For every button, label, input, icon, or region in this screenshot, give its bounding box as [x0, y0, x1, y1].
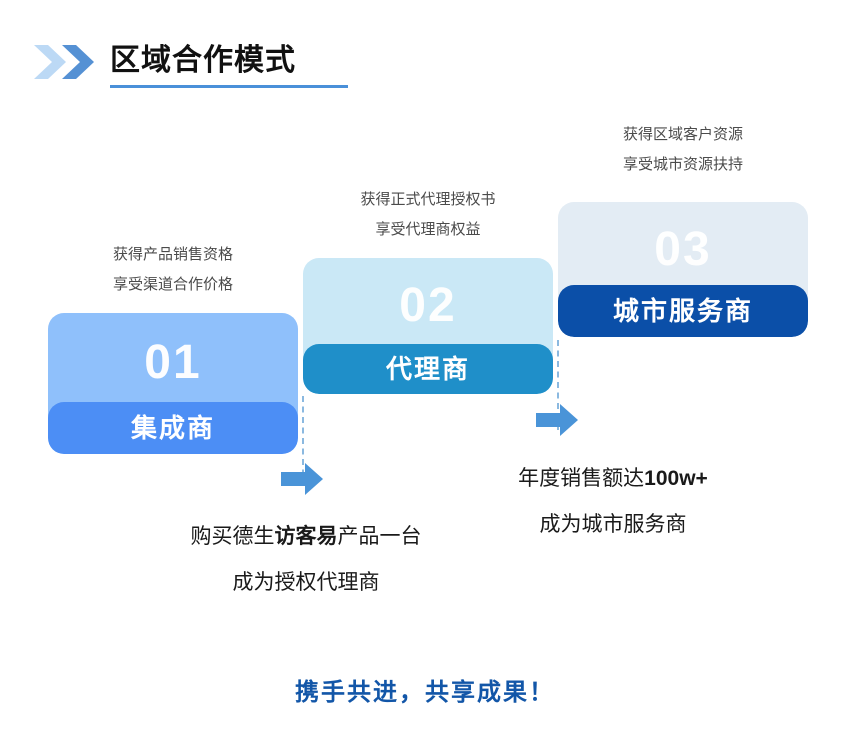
tier-caption-02: 获得正式代理授权书 享受代理商权益 [298, 185, 558, 245]
tier-label-01: 集成商 [131, 415, 215, 441]
footer-slogan: 携手共进，共享成果！ [0, 672, 850, 707]
note-2-strong: 100w+ [644, 467, 708, 490]
tier-card-03[interactable]: 03 城市服务商 [558, 202, 808, 337]
note-1-prefix: 购买德生 [191, 525, 275, 548]
tier-label-03: 城市服务商 [613, 298, 753, 324]
tier-requirement-note-1: 购买德生访客易产品一台 成为授权代理商 [141, 514, 471, 606]
tier-caption-01-line2: 享受渠道合作价格 [48, 270, 298, 300]
tier-caption-03-line2: 享受城市资源扶持 [558, 150, 808, 180]
tier-requirement-note-2: 年度销售额达100w+ 成为城市服务商 [448, 456, 778, 548]
arrow-right-icon-1 [281, 461, 323, 497]
tier-card-01[interactable]: 01 集成商 [48, 313, 298, 454]
note-1-strong: 访客易 [275, 525, 338, 548]
tier-requirement-note-2-line1: 年度销售额达100w+ [448, 456, 778, 502]
tier-label-02: 代理商 [386, 356, 470, 382]
note-1-suffix: 产品一台 [338, 525, 422, 548]
tier-requirement-note-1-line2: 成为授权代理商 [141, 560, 471, 606]
tier-caption-02-line2: 享受代理商权益 [298, 215, 558, 245]
tier-caption-02-line1: 获得正式代理授权书 [298, 185, 558, 215]
tier-card-02[interactable]: 02 代理商 [303, 258, 553, 394]
tier-number-01: 01 [144, 339, 201, 387]
tier-caption-03-line1: 获得区域客户资源 [558, 120, 808, 150]
tier-card-01-band: 集成商 [48, 402, 298, 454]
note-2-prefix: 年度销售额达 [518, 467, 644, 490]
tier-caption-01-line1: 获得产品销售资格 [48, 240, 298, 270]
tier-card-03-band: 城市服务商 [558, 285, 808, 337]
tier-requirement-note-1-line1: 购买德生访客易产品一台 [141, 514, 471, 560]
tier-caption-01: 获得产品销售资格 享受渠道合作价格 [48, 240, 298, 300]
tier-requirement-note-2-line2: 成为城市服务商 [448, 502, 778, 548]
arrow-right-icon-2 [536, 402, 578, 438]
partnership-tiers-diagram: 获得产品销售资格 享受渠道合作价格 获得正式代理授权书 享受代理商权益 获得区域… [0, 0, 850, 737]
tier-number-03: 03 [654, 226, 711, 274]
tier-card-02-band: 代理商 [303, 344, 553, 394]
tier-caption-03: 获得区域客户资源 享受城市资源扶持 [558, 120, 808, 180]
tier-number-02: 02 [399, 282, 456, 330]
